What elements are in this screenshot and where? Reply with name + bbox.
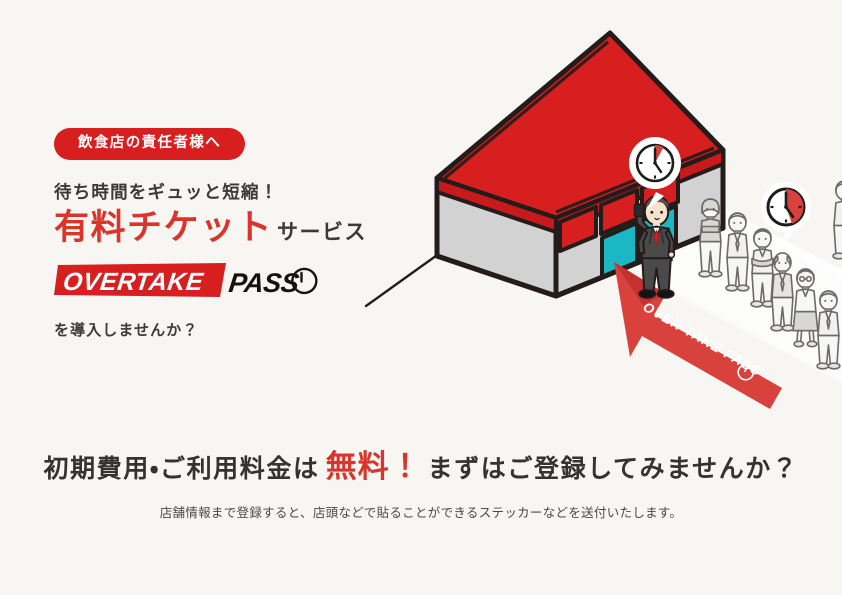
- logo-word-over: OVER: [61, 268, 137, 296]
- cta-block: 初期費用・ご利用料金は無料！まずはご登録してみませんか？ 店舗情報まで登録すると…: [0, 448, 842, 521]
- queue-person: [833, 181, 842, 259]
- over-take-pass-logo: OVER TAKE PASS: [54, 259, 434, 301]
- service-headline-main: 有料チケット: [54, 208, 273, 247]
- service-headline: 有料チケットサービス: [54, 210, 434, 245]
- logo-word-take: TAKE: [133, 268, 205, 296]
- service-headline-suffix: サービス: [277, 221, 367, 244]
- tagline: 待ち時間をギュッと短縮！: [54, 182, 434, 203]
- audience-badge: 飲食店の責任者様へ: [54, 128, 245, 160]
- cta-note: 店舗情報まで登録すると、店頭などで貼ることができるステッカーなどを送付いたします…: [0, 502, 842, 521]
- over-take-pass-logo-mark: OVER TAKE PASS: [54, 259, 324, 301]
- cta-free-emphasis: 無料！: [320, 449, 428, 484]
- cta-headline-before: 初期費用・ご利用料金は: [43, 455, 319, 483]
- closing-line: を導入しませんか？: [54, 319, 434, 340]
- cta-headline: 初期費用・ご利用料金は無料！まずはご登録してみませんか？: [0, 448, 842, 487]
- cta-headline-after: まずはご登録してみませんか？: [428, 455, 799, 483]
- hero-copy-block: 飲食店の責任者様へ 待ち時間をギュッと短縮！ 有料チケットサービス OVER T…: [54, 128, 434, 340]
- logo-word-pass: PASS: [227, 267, 301, 298]
